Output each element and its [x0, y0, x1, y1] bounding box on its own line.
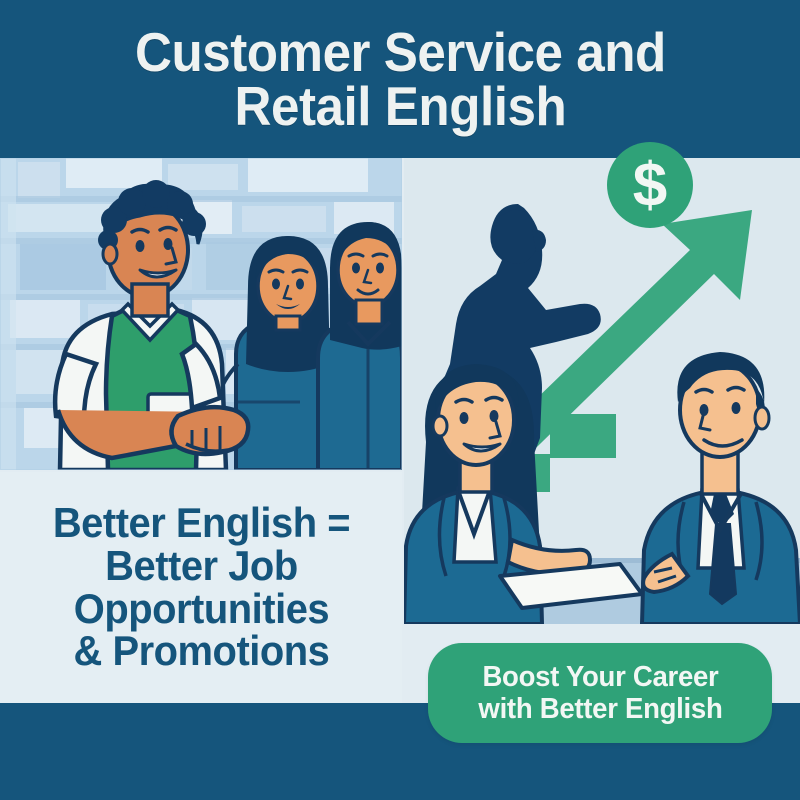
illustration-retail-handshake — [0, 158, 402, 470]
cta-boost-career-button[interactable]: Boost Your Career with Better English — [428, 643, 772, 743]
value-proposition-text: Better English = Better Job Opportunitie… — [52, 502, 349, 673]
handshake-icon — [171, 407, 248, 454]
dollar-coin-icon: $ — [605, 140, 695, 230]
cta-label: Boost Your Career with Better English — [478, 661, 722, 726]
figure-customer-man — [318, 222, 402, 470]
value-proposition-block: Better English = Better Job Opportunitie… — [0, 472, 402, 703]
poster: Customer Service and Retail English — [0, 0, 800, 800]
svg-text:$: $ — [633, 151, 667, 220]
header-bar: Customer Service and Retail English — [0, 0, 800, 158]
retail-scene-svg — [0, 158, 402, 470]
illustration-career-growth — [404, 158, 800, 624]
page-title: Customer Service and Retail English — [116, 25, 684, 134]
career-scene-svg — [404, 158, 800, 624]
